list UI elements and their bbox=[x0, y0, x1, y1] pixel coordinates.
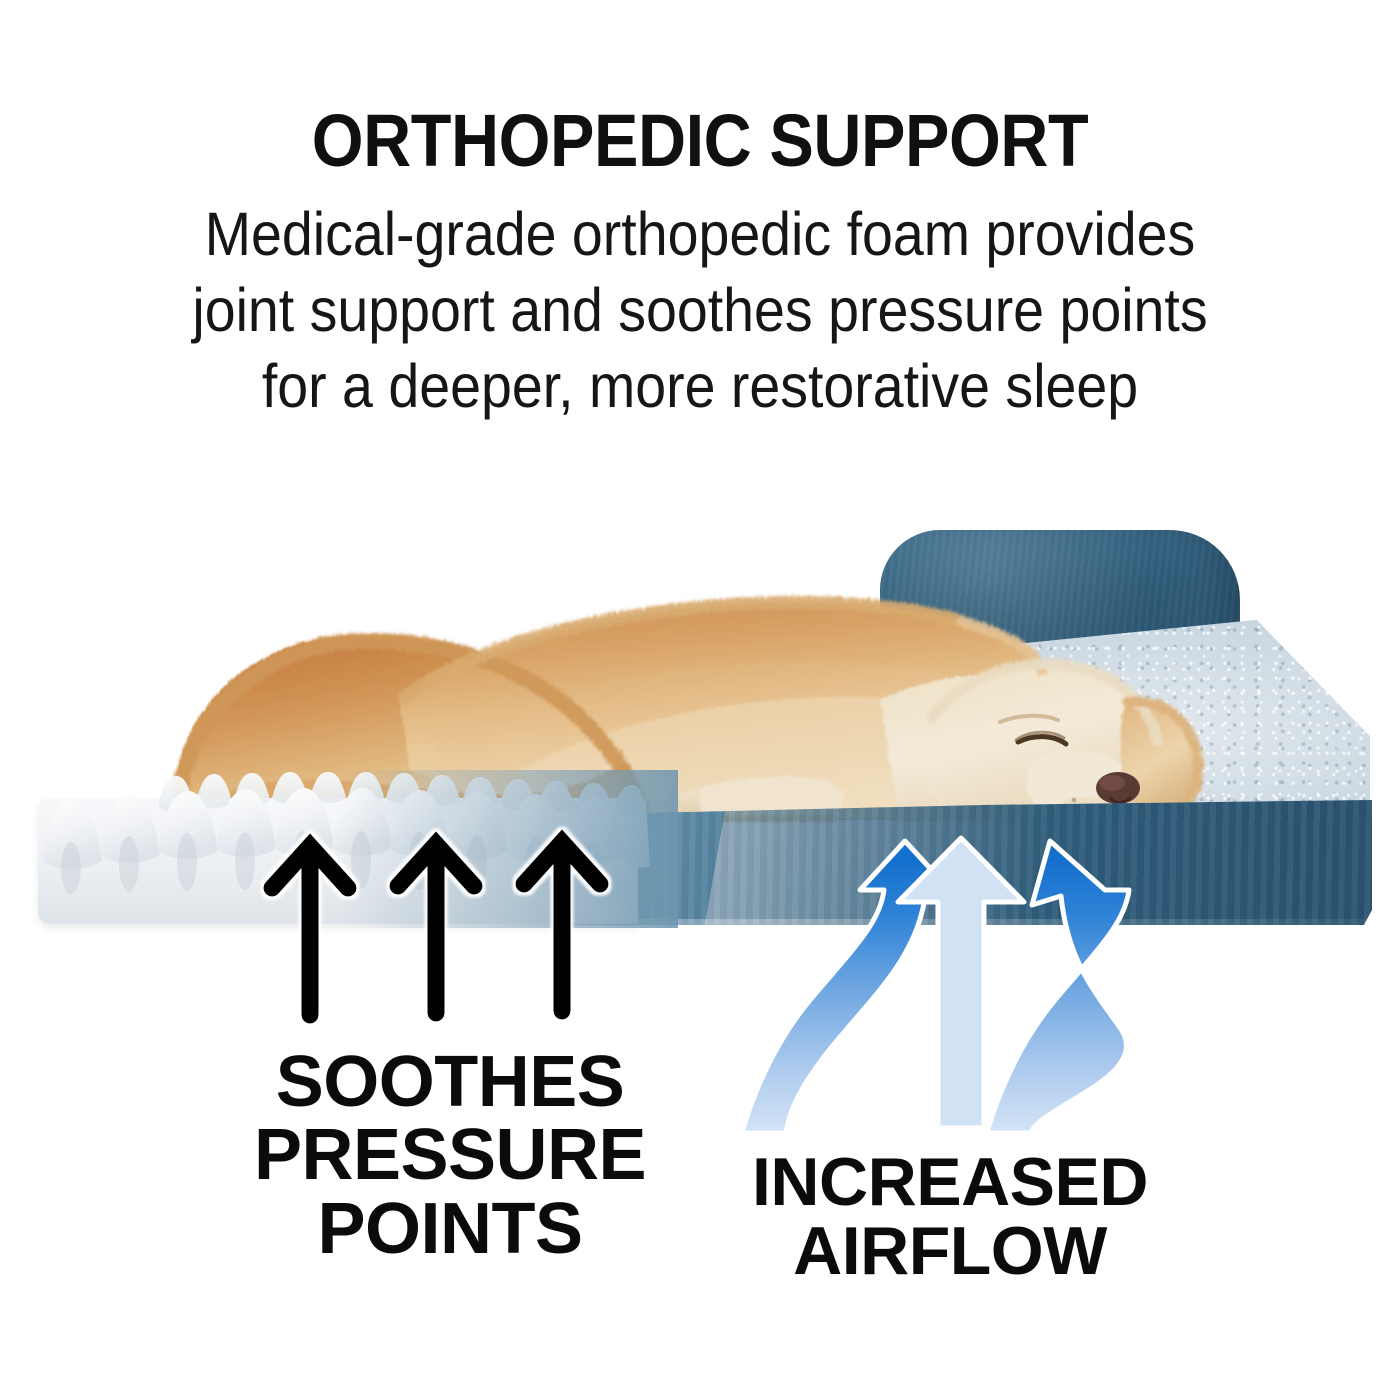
caption-right-line-2: AIRFLOW bbox=[700, 1217, 1200, 1286]
caption-left-line-2: PRESSURE bbox=[140, 1119, 760, 1192]
product-scene bbox=[0, 470, 1400, 970]
base-edge-highlight bbox=[560, 919, 1372, 925]
egg-crate-foam bbox=[38, 770, 638, 925]
subtitle-line-1: Medical-grade orthopedic foam provides bbox=[127, 196, 1274, 272]
caption-left-line-3: POINTS bbox=[140, 1193, 760, 1266]
marketing-infographic: ORTHOPEDIC SUPPORT Medical-grade orthope… bbox=[0, 0, 1400, 1400]
caption-right-line-1: INCREASED bbox=[700, 1148, 1200, 1217]
blue-base-panel bbox=[560, 800, 1372, 925]
subtitle-block: Medical-grade orthopedic foam provides j… bbox=[127, 196, 1274, 424]
page-title: ORTHOPEDIC SUPPORT bbox=[70, 104, 1330, 178]
caption-left-line-1: SOOTHES bbox=[140, 1046, 760, 1119]
caption-increased-airflow: INCREASED AIRFLOW bbox=[700, 1148, 1200, 1287]
subtitle-line-3: for a deeper, more restorative sleep bbox=[127, 348, 1274, 424]
subtitle-line-2: joint support and soothes pressure point… bbox=[127, 272, 1274, 348]
caption-soothes-pressure-points: SOOTHES PRESSURE POINTS bbox=[140, 1046, 760, 1266]
